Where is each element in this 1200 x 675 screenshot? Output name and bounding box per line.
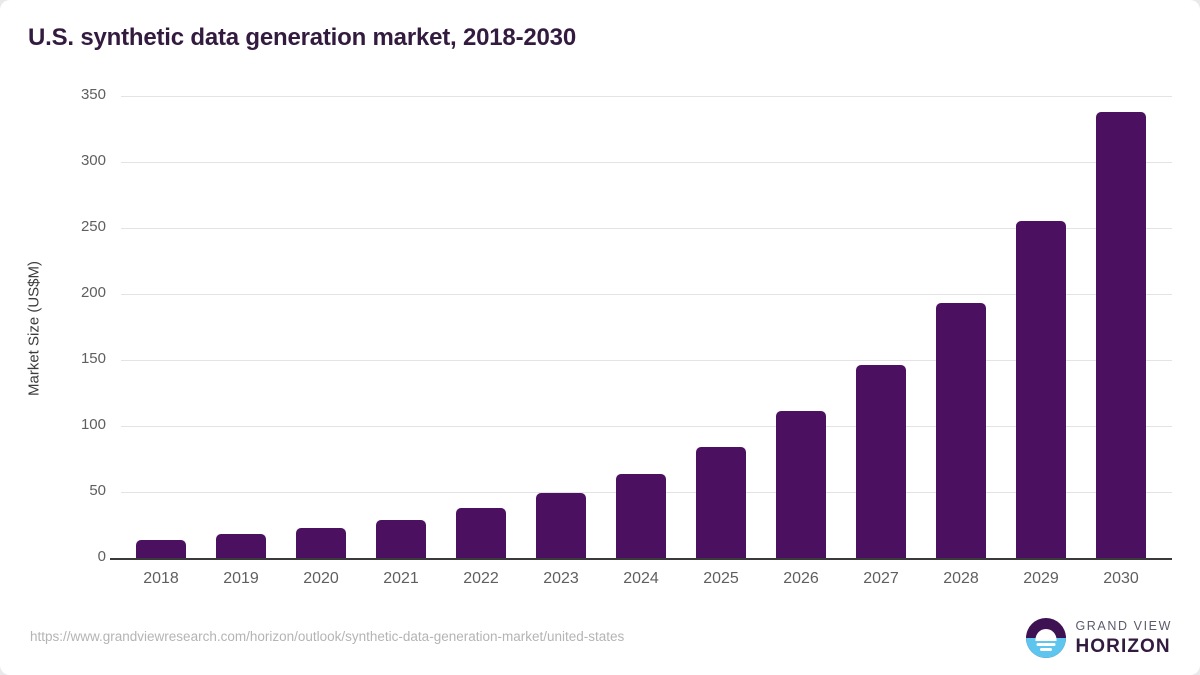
bar-2024[interactable] <box>616 474 666 558</box>
x-tick-label-2029: 2029 <box>1001 570 1081 588</box>
x-axis-line <box>110 558 1172 560</box>
x-tick-label-2030: 2030 <box>1081 570 1161 588</box>
x-tick-label-2028: 2028 <box>921 570 1001 588</box>
bar-group: 2030 <box>1081 96 1161 558</box>
bar-group: 2018 <box>121 96 201 558</box>
x-tick-label-2024: 2024 <box>601 570 681 588</box>
bar-2030[interactable] <box>1096 112 1146 558</box>
brand-name-line1: GRAND VIEW <box>1075 620 1172 633</box>
x-tick-label-2026: 2026 <box>761 570 841 588</box>
source-url[interactable]: https://www.grandviewresearch.com/horizo… <box>30 629 624 644</box>
bar-2025[interactable] <box>696 447 746 558</box>
bar-2018[interactable] <box>136 540 186 558</box>
bar-group: 2020 <box>281 96 361 558</box>
bar-2028[interactable] <box>936 303 986 558</box>
bar-group: 2029 <box>1001 96 1081 558</box>
bar-group: 2025 <box>681 96 761 558</box>
x-tick-label-2020: 2020 <box>281 570 361 588</box>
bar-group: 2028 <box>921 96 1001 558</box>
y-axis-title: Market Size (US$M) <box>26 129 43 529</box>
bar-group: 2026 <box>761 96 841 558</box>
brand-logo-text: GRAND VIEW HORIZON <box>1075 620 1172 656</box>
chart-page: U.S. synthetic data generation market, 2… <box>0 0 1200 675</box>
bar-2019[interactable] <box>216 534 266 558</box>
bar-group: 2023 <box>521 96 601 558</box>
y-tick-label: 50 <box>40 482 106 499</box>
x-tick-label-2022: 2022 <box>441 570 521 588</box>
x-tick-label-2018: 2018 <box>121 570 201 588</box>
chart-plot-area: Market Size (US$M) 050100150200250300350… <box>0 0 1200 675</box>
brand-name-line2: HORIZON <box>1075 637 1172 656</box>
x-tick-label-2023: 2023 <box>521 570 601 588</box>
y-tick-label: 250 <box>40 218 106 235</box>
y-tick-label: 300 <box>40 152 106 169</box>
y-tick-label: 350 <box>40 86 106 103</box>
y-tick-label: 100 <box>40 416 106 433</box>
bar-2020[interactable] <box>296 528 346 558</box>
bar-group: 2024 <box>601 96 681 558</box>
bar-2029[interactable] <box>1016 221 1066 558</box>
bars-group: 2018201920202021202220232024202520262027… <box>121 96 1161 558</box>
x-tick-label-2025: 2025 <box>681 570 761 588</box>
x-tick-label-2021: 2021 <box>361 570 441 588</box>
bar-group: 2027 <box>841 96 921 558</box>
x-tick-label-2019: 2019 <box>201 570 281 588</box>
bar-group: 2021 <box>361 96 441 558</box>
bar-2026[interactable] <box>776 411 826 558</box>
bar-2023[interactable] <box>536 493 586 558</box>
bar-2022[interactable] <box>456 508 506 558</box>
bar-group: 2022 <box>441 96 521 558</box>
y-tick-label: 150 <box>40 350 106 367</box>
y-tick-label: 200 <box>40 284 106 301</box>
grand-view-horizon-logo-icon <box>1026 618 1066 658</box>
y-tick-label: 0 <box>40 548 106 565</box>
bar-group: 2019 <box>201 96 281 558</box>
bar-2021[interactable] <box>376 520 426 558</box>
bar-2027[interactable] <box>856 365 906 558</box>
x-tick-label-2027: 2027 <box>841 570 921 588</box>
brand-logo: GRAND VIEW HORIZON <box>1026 618 1172 658</box>
gridline-row: 0 <box>0 558 1200 559</box>
